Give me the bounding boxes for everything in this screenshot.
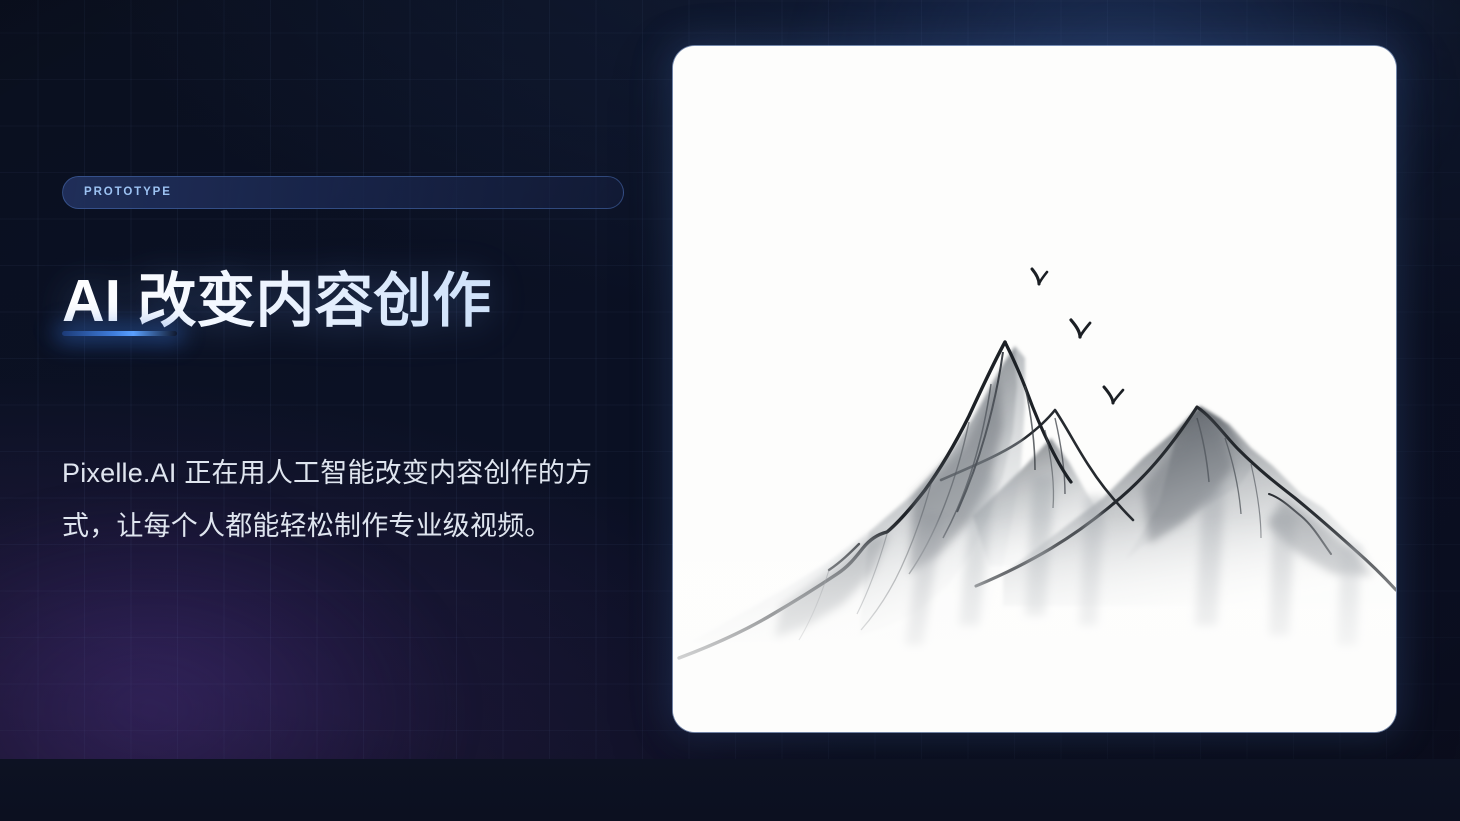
prototype-badge-label: PROTOTYPE: [84, 187, 172, 199]
title-accent-bar: [62, 331, 177, 336]
prototype-badge: PROTOTYPE: [62, 176, 624, 209]
body-paragraph: Pixelle.AI 正在用人工智能改变内容创作的方式，让每个人都能轻松制作专业…: [62, 447, 628, 552]
media-card: [673, 46, 1396, 732]
slide-stage: PROTOTYPE AI 改变内容创作 Pixelle.AI 正在用人工智能改变…: [0, 0, 1460, 759]
bottom-strip: [0, 759, 1460, 821]
left-content-column: PROTOTYPE AI 改变内容创作 Pixelle.AI 正在用人工智能改变…: [62, 0, 662, 759]
slide-root: PROTOTYPE AI 改变内容创作 Pixelle.AI 正在用人工智能改变…: [0, 0, 1460, 821]
mountain-ink-illustration: [673, 46, 1396, 732]
page-title: AI 改变内容创作: [62, 268, 682, 335]
